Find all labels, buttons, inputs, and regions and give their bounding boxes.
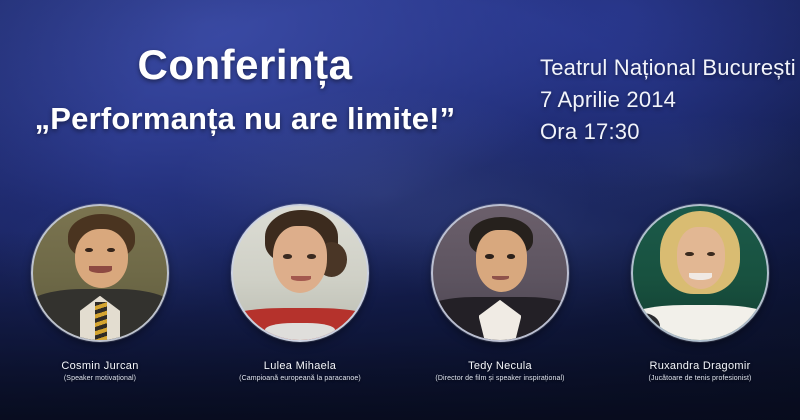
speaker-name: Cosmin Jurcan <box>61 360 138 372</box>
speaker-role: (Director de film și speaker inspirațion… <box>435 375 564 382</box>
conference-title: Conferința <box>0 44 512 87</box>
speaker-role: (Jucătoare de tenis profesionist) <box>649 375 752 382</box>
speaker-role: (Campioană europeană la paracanoe) <box>239 375 361 382</box>
portrait-lulea-mihaela <box>231 204 369 342</box>
conference-slogan: „Performanța nu are limite!” <box>0 103 512 136</box>
speaker-card-3: Tedy Necula (Director de film și speaker… <box>400 204 600 382</box>
portrait-artwork <box>633 206 767 340</box>
venue-block: Teatrul Național București 7 Aprilie 201… <box>540 52 796 148</box>
venue-date: 7 Aprilie 2014 <box>540 84 796 116</box>
speaker-card-1: Cosmin Jurcan (Speaker motivațional) <box>0 204 200 382</box>
speaker-name: Ruxandra Dragomir <box>649 360 750 372</box>
portrait-artwork <box>233 206 367 340</box>
portrait-tedy-necula <box>431 204 569 342</box>
portrait-ruxandra-dragomir <box>631 204 769 342</box>
conference-poster: Conferința „Performanța nu are limite!” … <box>0 0 800 420</box>
speaker-name: Lulea Mihaela <box>264 360 336 372</box>
portrait-artwork <box>433 206 567 340</box>
venue-location: Teatrul Național București <box>540 52 796 84</box>
speaker-card-2: Lulea Mihaela (Campioană europeană la pa… <box>200 204 400 382</box>
venue-time: Ora 17:30 <box>540 116 796 148</box>
speaker-name: Tedy Necula <box>468 360 532 372</box>
portrait-cosmin-jurcan <box>31 204 169 342</box>
speakers-row: Cosmin Jurcan (Speaker motivațional) Lul… <box>0 204 800 382</box>
portrait-artwork <box>33 206 167 340</box>
speaker-card-4: Ruxandra Dragomir (Jucătoare de tenis pr… <box>600 204 800 382</box>
speaker-role: (Speaker motivațional) <box>64 375 136 382</box>
headline-block: Conferința „Performanța nu are limite!” <box>0 44 512 135</box>
